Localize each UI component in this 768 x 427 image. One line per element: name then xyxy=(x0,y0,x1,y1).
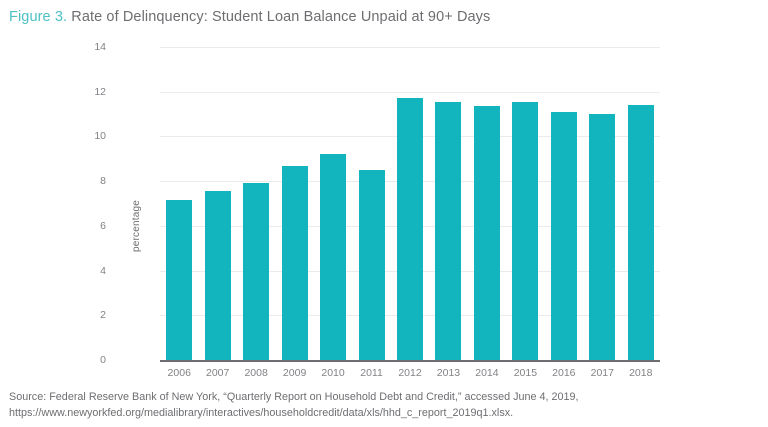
plot-area: 2006200720082009201020112012201320142015… xyxy=(160,47,660,360)
y-tick-label: 12 xyxy=(66,86,106,98)
bar xyxy=(628,105,654,360)
y-tick-label: 10 xyxy=(66,130,106,142)
y-tick-label: 4 xyxy=(66,265,106,277)
y-tick-label: 8 xyxy=(66,175,106,187)
bar xyxy=(205,191,231,360)
chart-container: percentage 02468101214 20062007200820092… xyxy=(0,30,768,380)
bar xyxy=(243,183,269,360)
page-title: Figure 3. Rate of Delinquency: Student L… xyxy=(9,8,490,26)
source-note: Source: Federal Reserve Bank of New York… xyxy=(9,390,761,421)
figure-title-text: Rate of Delinquency: Student Loan Balanc… xyxy=(67,9,490,25)
bar xyxy=(435,102,461,360)
y-tick-label: 0 xyxy=(66,354,106,366)
bar xyxy=(166,200,192,360)
y-tick-label: 6 xyxy=(66,220,106,232)
bar xyxy=(359,170,385,360)
bar xyxy=(512,102,538,360)
bar xyxy=(589,114,615,360)
bar xyxy=(474,106,500,360)
x-tick-label: 2018 xyxy=(616,367,666,379)
x-axis-line xyxy=(160,360,660,362)
bar xyxy=(551,112,577,360)
bar xyxy=(282,166,308,361)
y-tick-label: 14 xyxy=(66,41,106,53)
bar xyxy=(320,154,346,360)
y-tick-label: 2 xyxy=(66,309,106,321)
bar xyxy=(397,98,423,360)
bar-series xyxy=(160,47,660,360)
figure-number: Figure 3. xyxy=(9,9,67,25)
